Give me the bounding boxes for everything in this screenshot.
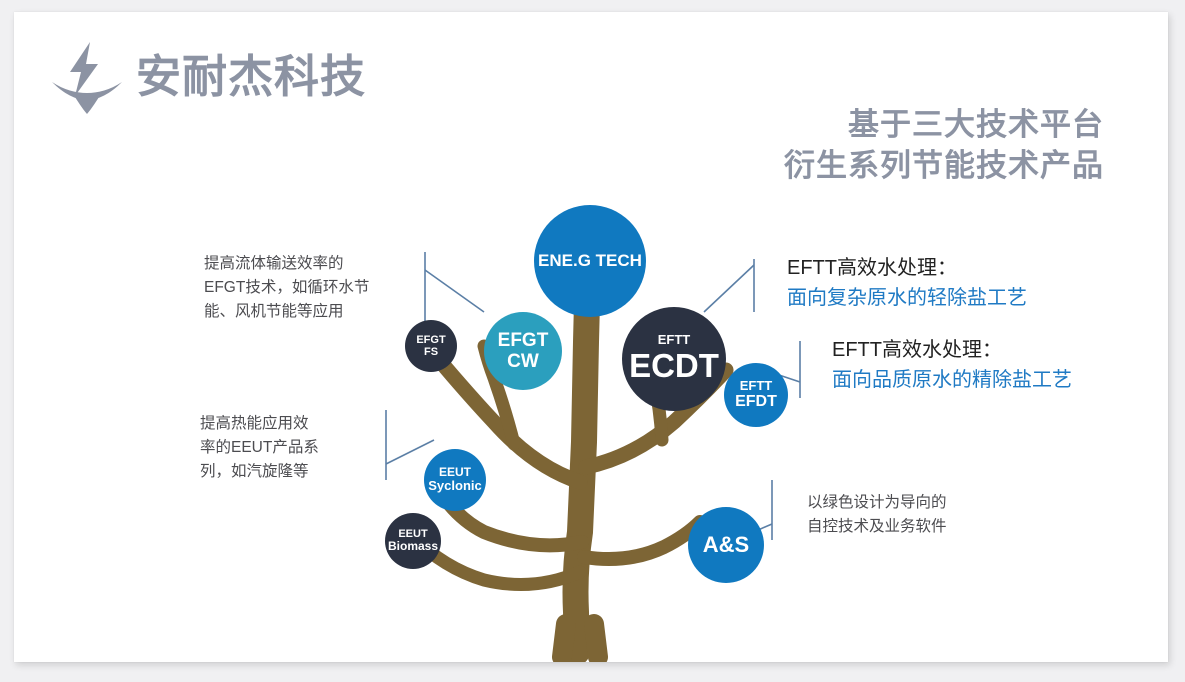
efgt-callout-line-2: EFGT技术，如循环水节 bbox=[204, 276, 369, 300]
leader-efgt-diagonal bbox=[425, 270, 484, 312]
tech-node-ecdt-label-primary: EFTT bbox=[658, 333, 691, 348]
tech-node-eftt-efdt-label-secondary: EFDT bbox=[735, 393, 777, 411]
tech-node-eftt-efdt-label-primary: EFTT bbox=[740, 379, 773, 394]
tech-node-eeut-syc[interactable]: EEUTSyclonic bbox=[424, 449, 486, 511]
tech-node-efgt-fs[interactable]: EFGTFS bbox=[405, 320, 457, 372]
leader-ecdt-diagonal bbox=[704, 265, 754, 312]
tech-node-eeut-bio[interactable]: EEUTBiomass bbox=[385, 513, 441, 569]
tech-node-efgt-fs-label-primary: EFGT bbox=[416, 334, 445, 346]
tech-node-eftt-efdt[interactable]: EFTTEFDT bbox=[724, 363, 788, 427]
tech-node-ecdt-label-secondary: ECDT bbox=[629, 348, 719, 385]
as-callout-line-2: 自控技术及业务软件 bbox=[807, 515, 947, 539]
callout-as: 以绿色设计为导向的自控技术及业务软件 bbox=[807, 491, 947, 540]
tech-node-eeut-bio-label-secondary: Biomass bbox=[388, 540, 438, 553]
callout-efgt: 提高流体输送效率的EFGT技术，如循环水节能、风机节能等应用 bbox=[204, 252, 369, 324]
callout-efdt: EFTT高效水处理：面向品质原水的精除盐工艺 bbox=[832, 335, 1072, 396]
efdt-callout-line-2: 面向品质原水的精除盐工艺 bbox=[832, 365, 1072, 395]
tech-node-efgt-cw-label-secondary: CW bbox=[507, 351, 539, 372]
tech-node-eneg-label-primary: ENE.G TECH bbox=[538, 251, 642, 270]
ecdt-callout-line-1: EFTT高效水处理： bbox=[787, 253, 1027, 283]
eeut-callout-line-3: 列，如汽旋隆等 bbox=[200, 460, 319, 484]
slide-viewport: 安耐杰科技 基于三大技术平台 衍生系列节能技术产品 bbox=[0, 0, 1185, 682]
callout-ecdt: EFTT高效水处理：面向复杂原水的轻除盐工艺 bbox=[787, 253, 1027, 314]
eeut-callout-line-1: 提高热能应用效 bbox=[200, 412, 319, 436]
tech-node-eeut-syc-label-primary: EEUT bbox=[439, 466, 471, 479]
efdt-callout-line-1: EFTT高效水处理： bbox=[832, 335, 1072, 365]
eeut-callout-line-2: 率的EEUT产品系 bbox=[200, 436, 319, 460]
tech-node-ecdt[interactable]: EFTTECDT bbox=[622, 307, 726, 411]
slide-canvas: 安耐杰科技 基于三大技术平台 衍生系列节能技术产品 bbox=[14, 12, 1168, 662]
tech-node-eneg[interactable]: ENE.G TECH bbox=[534, 205, 646, 317]
efgt-callout-line-1: 提高流体输送效率的 bbox=[204, 252, 369, 276]
tech-node-efgt-cw[interactable]: EFGTCW bbox=[484, 312, 562, 390]
tech-node-eeut-syc-label-secondary: Syclonic bbox=[428, 479, 481, 494]
leader-eeut-diagonal bbox=[386, 440, 434, 464]
tech-node-as[interactable]: A&S bbox=[688, 507, 764, 583]
as-callout-line-1: 以绿色设计为导向的 bbox=[807, 491, 947, 515]
tech-node-as-label-primary: A&S bbox=[703, 533, 749, 558]
callout-eeut: 提高热能应用效率的EEUT产品系列，如汽旋隆等 bbox=[200, 412, 319, 484]
ecdt-callout-line-2: 面向复杂原水的轻除盐工艺 bbox=[787, 283, 1027, 313]
efgt-callout-line-3: 能、风机节能等应用 bbox=[204, 300, 369, 324]
tech-node-efgt-fs-label-secondary: FS bbox=[424, 346, 438, 358]
tech-node-efgt-cw-label-primary: EFGT bbox=[498, 330, 549, 351]
